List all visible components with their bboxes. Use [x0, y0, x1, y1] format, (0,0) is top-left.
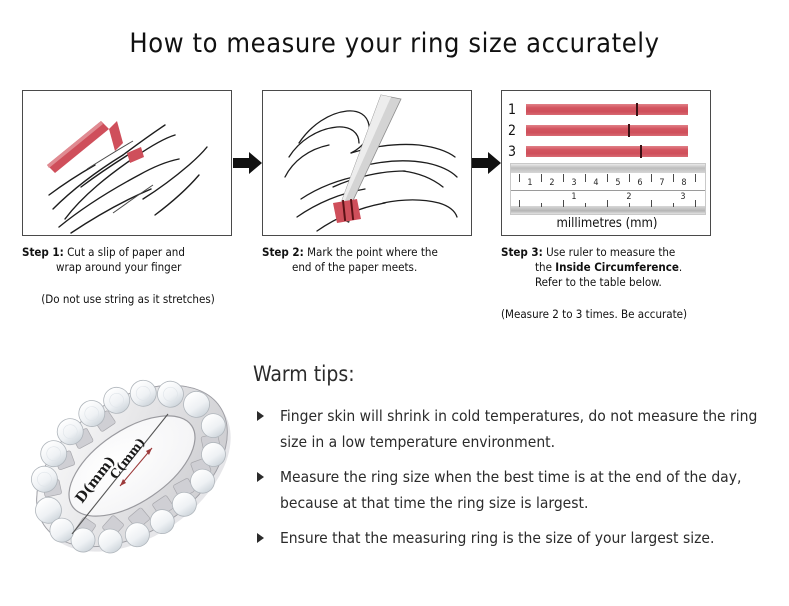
- ruler-tick: [519, 200, 520, 207]
- ruler-cm-label: 1: [527, 178, 532, 188]
- strip-row: 2: [508, 120, 708, 141]
- arrow-step2-to-step3: [472, 148, 502, 178]
- step-3-line2-post: .: [679, 260, 682, 274]
- tip-text: Measure the ring size when the best time…: [280, 468, 741, 512]
- step-1-panel: [22, 90, 232, 236]
- ruler-tick: [651, 200, 652, 207]
- strip-number: 3: [508, 145, 526, 159]
- step-3-line3: Refer to the table below.: [501, 275, 713, 290]
- eternity-ring-photo: D(mm) C(mm): [16, 352, 248, 580]
- ruler-tick: [563, 174, 564, 182]
- paper-strip-shape: [47, 121, 109, 173]
- strip-row: 3: [508, 141, 708, 162]
- ruler-tick: [629, 203, 630, 207]
- tip-item: Finger skin will shrink in cold temperat…: [253, 403, 773, 455]
- step-1-lead: Step 1:: [22, 245, 64, 259]
- step-3-caption: Step 3: Use ruler to measure the the Ins…: [501, 245, 713, 290]
- ruler-tick: [651, 174, 652, 182]
- triangle-bullet-icon: [257, 411, 264, 421]
- ruler-tick: [563, 200, 564, 207]
- step-3-note: (Measure 2 to 3 times. Be accurate): [501, 307, 713, 322]
- step-1-note: (Do not use string as it stretches): [22, 292, 234, 307]
- step-3-line2-pre: the: [535, 260, 555, 274]
- ruler-tick: [673, 174, 674, 182]
- strip-row: 1: [508, 99, 708, 120]
- step-1-line2: wrap around your finger: [22, 260, 234, 275]
- step-1-line1: Cut a slip of paper and: [67, 245, 185, 259]
- tip-item: Ensure that the measuring ring is the si…: [253, 525, 773, 551]
- step-3-block: 1 2 3: [501, 90, 713, 322]
- paper-strip-bar: [526, 125, 688, 136]
- ruler-cm-label: 3: [571, 178, 576, 188]
- ruler-cm-label: 2: [549, 178, 554, 188]
- ruler-tick: [607, 174, 608, 182]
- step-2-line1: Mark the point where the: [307, 245, 438, 259]
- tip-text: Finger skin will shrink in cold temperat…: [280, 407, 757, 451]
- warm-tips-heading: Warm tips:: [253, 362, 773, 386]
- strip-number: 1: [508, 103, 526, 117]
- strip-number: 2: [508, 124, 526, 138]
- marked-strip-shape: [333, 199, 361, 223]
- ruler-mid-divider: [511, 190, 705, 191]
- ruler-cm-label: 8: [681, 178, 686, 188]
- ruler-unit-caption: millimetres (mm): [502, 216, 711, 231]
- step-3-line2: the Inside Circumference.: [501, 260, 713, 275]
- hand-with-paper-strip-icon: [23, 91, 231, 235]
- ruler-tick: [585, 203, 586, 207]
- ruler-tick: [629, 174, 630, 182]
- step-2-lead: Step 2:: [262, 245, 304, 259]
- warm-tips-section: Warm tips: Finger skin will shrink in co…: [253, 362, 773, 560]
- step-2-block: Step 2: Mark the point where the end of …: [262, 90, 474, 292]
- inside-circumference-emphasis: Inside Circumference: [555, 260, 679, 274]
- ruler-graphic: 1 2 3 4 5 6 7 8: [510, 163, 706, 215]
- ruler-cm-label: 5: [615, 178, 620, 188]
- step-3-line1: Use ruler to measure the: [546, 245, 675, 259]
- wrapped-strip-shape: [109, 121, 144, 163]
- ruler-cm-ticks: 1 2 3 4 5 6 7 8: [511, 174, 705, 190]
- triangle-bullet-icon: [257, 533, 264, 543]
- ruler-inch-label: 1: [571, 192, 576, 202]
- ruler-cm-label: 6: [637, 178, 642, 188]
- tip-item: Measure the ring size when the best time…: [253, 464, 773, 516]
- step-1-caption: Step 1: Cut a slip of paper and wrap aro…: [22, 245, 234, 275]
- ruler-tick: [607, 200, 608, 207]
- ruler-inch-ticks: 1 2 3: [511, 192, 705, 208]
- strip-mark-tick: [636, 103, 638, 116]
- ruler-tick: [695, 174, 696, 182]
- step-1-block: Step 1: Cut a slip of paper and wrap aro…: [22, 90, 234, 307]
- step-3-panel: 1 2 3: [501, 90, 711, 236]
- ruler-tick: [695, 200, 696, 207]
- page-title: How to measure your ring size accurately: [0, 28, 789, 59]
- strip-mark-tick: [640, 145, 642, 158]
- ruler-inch-label: 2: [626, 192, 631, 202]
- arrow-step1-to-step2: [233, 148, 263, 178]
- ruler-tick: [519, 174, 520, 182]
- step-2-line2: end of the paper meets.: [262, 260, 474, 275]
- paper-strip-bar: [526, 146, 688, 157]
- ruler-tick: [541, 203, 542, 207]
- paper-strip-bar: [526, 104, 688, 115]
- hand-marking-paper-icon: [263, 91, 471, 235]
- step-2-caption: Step 2: Mark the point where the end of …: [262, 245, 474, 275]
- measured-strips-group: 1 2 3: [508, 99, 708, 162]
- ruler-inch-label: 3: [680, 192, 685, 202]
- strip-mark-tick: [628, 124, 630, 137]
- step-2-panel: [262, 90, 472, 236]
- ruler-tick: [585, 174, 586, 182]
- ruler-cm-label: 7: [659, 178, 664, 188]
- step-3-lead: Step 3:: [501, 245, 543, 259]
- triangle-bullet-icon: [257, 472, 264, 482]
- ruler-tick: [673, 203, 674, 207]
- ruler-top-band: [511, 164, 705, 173]
- ruler-cm-label: 4: [593, 178, 598, 188]
- ruler-tick: [541, 174, 542, 182]
- ring-figure: D(mm) C(mm): [16, 352, 248, 580]
- tip-text: Ensure that the measuring ring is the si…: [280, 529, 714, 547]
- steps-row: Step 1: Cut a slip of paper and wrap aro…: [0, 90, 789, 340]
